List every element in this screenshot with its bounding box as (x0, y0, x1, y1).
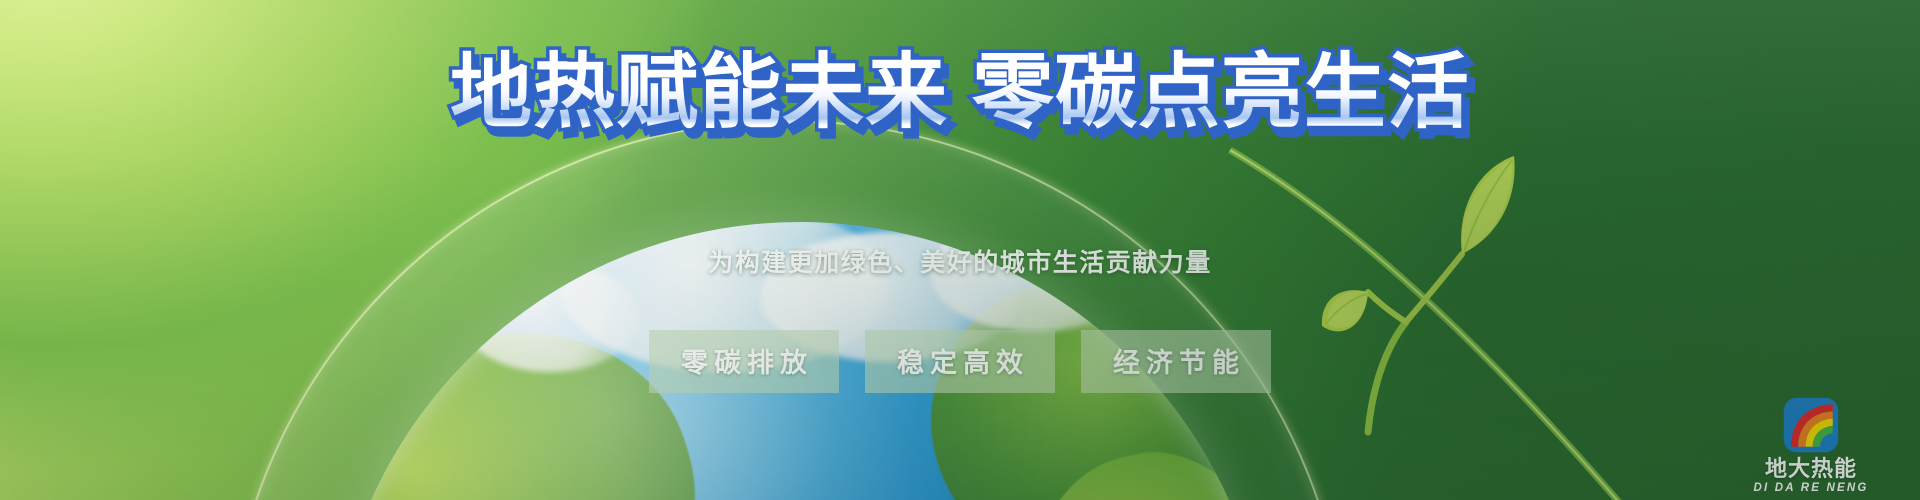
company-name-cn: 地大热能 (1765, 457, 1857, 480)
didareneng-rainbow-mark-icon (1782, 396, 1840, 454)
feature-badge-stable-efficient[interactable]: 稳定高效 (865, 330, 1055, 393)
company-name-en: DI DA RE NENG (1753, 482, 1868, 494)
feature-badge-list: 零碳排放 稳定高效 经济节能 (0, 330, 1920, 393)
feature-badge-economic-saving[interactable]: 经济节能 (1081, 330, 1271, 393)
hero-banner: 地热赋能未来 零碳点亮生活 地热赋能未来 零碳点亮生活 地热赋能未来 零碳点亮生… (0, 0, 1920, 500)
company-logo[interactable]: 地大热能 DI DA RE NENG (1752, 396, 1870, 494)
feature-badge-zero-carbon[interactable]: 零碳排放 (649, 330, 839, 393)
